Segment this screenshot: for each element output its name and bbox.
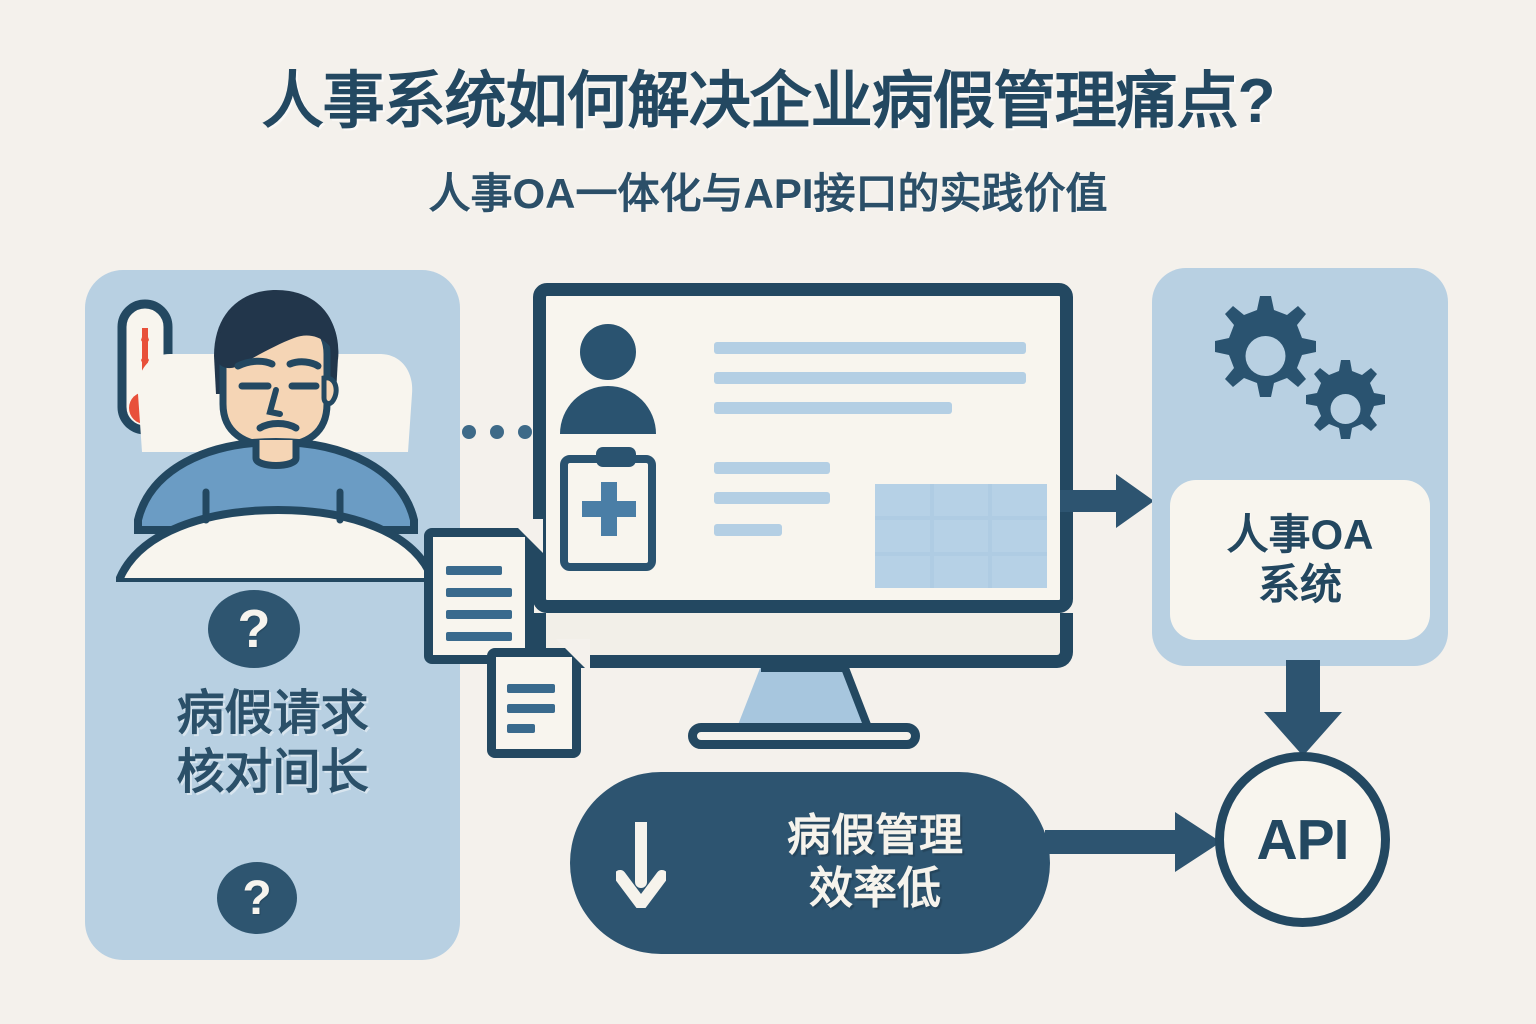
calendar-grid-icon xyxy=(875,484,1047,588)
document-fold-corner xyxy=(509,519,543,553)
document-line xyxy=(507,684,555,693)
arrow-oa-to-api xyxy=(1258,660,1348,760)
document-fold-corner xyxy=(556,639,590,673)
document-icon-2 xyxy=(487,648,581,758)
text-bar xyxy=(714,402,952,414)
grid-cell xyxy=(992,484,1047,516)
arrow-monitor-to-oa xyxy=(1058,468,1158,534)
sick-leave-problem-panel: ? 病假请求 核对间长 ? xyxy=(85,270,460,960)
monitor-screen-content xyxy=(552,302,1054,594)
left-caption-line-1: 病假请求 xyxy=(85,685,460,744)
left-panel-caption: 病假请求 核对间长 xyxy=(85,685,460,802)
document-icon-1 xyxy=(424,528,534,664)
connector-dot xyxy=(462,425,476,439)
document-line xyxy=(507,724,535,733)
text-bar xyxy=(714,462,830,474)
sick-person-in-bed-icon xyxy=(110,282,440,582)
question-mark-badge-bottom: ? xyxy=(217,862,297,934)
grid-cell xyxy=(992,520,1047,552)
page-title: 人事系统如何解决企业病假管理痛点? xyxy=(0,50,1536,140)
pill-text: 病假管理 效率低 xyxy=(710,772,1040,954)
clipboard-medical-icon xyxy=(560,455,656,571)
hr-oa-system-panel: 人事OA 系统 xyxy=(1152,268,1448,666)
oa-card-line-2: 系统 xyxy=(1258,560,1342,610)
monitor-chin xyxy=(533,613,1073,668)
left-caption-line-2: 核对间长 xyxy=(85,744,460,803)
arrow-pill-to-api xyxy=(1045,808,1225,876)
infographic-canvas: 人事系统如何解决企业病假管理痛点? 人事OA一体化与API接口的实践价值 xyxy=(0,0,1536,1024)
page-subtitle: 人事OA一体化与API接口的实践价值 xyxy=(0,160,1536,221)
api-interface-node[interactable]: API xyxy=(1215,752,1390,927)
grid-cell xyxy=(992,556,1047,588)
document-line xyxy=(446,566,502,575)
text-bar xyxy=(714,372,1026,384)
clipboard-clip xyxy=(596,447,636,467)
down-arrow-icon xyxy=(616,822,666,908)
low-efficiency-callout: 病假管理 效率低 xyxy=(570,772,1050,954)
document-line xyxy=(446,588,512,597)
medical-cross-horizontal xyxy=(582,501,636,517)
grid-cell xyxy=(875,556,930,588)
grid-cell xyxy=(875,520,930,552)
grid-cell xyxy=(934,556,989,588)
api-label: API xyxy=(1256,807,1348,873)
pill-text-line-2: 效率低 xyxy=(809,863,941,916)
connector-dot xyxy=(518,425,532,439)
gears-icon xyxy=(1194,288,1409,458)
pill-text-line-1: 病假管理 xyxy=(787,810,963,863)
document-line xyxy=(446,610,512,619)
user-avatar-icon xyxy=(580,324,636,380)
grid-cell xyxy=(875,484,930,516)
text-bar xyxy=(714,342,1026,354)
question-mark-badge-top: ? xyxy=(208,590,300,668)
connector-dot xyxy=(490,425,504,439)
oa-system-card[interactable]: 人事OA 系统 xyxy=(1170,480,1430,640)
text-bar xyxy=(714,492,830,504)
oa-card-line-1: 人事OA xyxy=(1226,510,1373,560)
document-line xyxy=(507,704,555,713)
monitor-base xyxy=(688,723,920,749)
document-line xyxy=(446,632,512,641)
user-avatar-body xyxy=(560,386,656,434)
text-bar xyxy=(714,524,782,536)
hr-system-monitor xyxy=(533,283,1073,733)
monitor-screen xyxy=(533,283,1073,613)
grid-cell xyxy=(934,520,989,552)
grid-cell xyxy=(934,484,989,516)
